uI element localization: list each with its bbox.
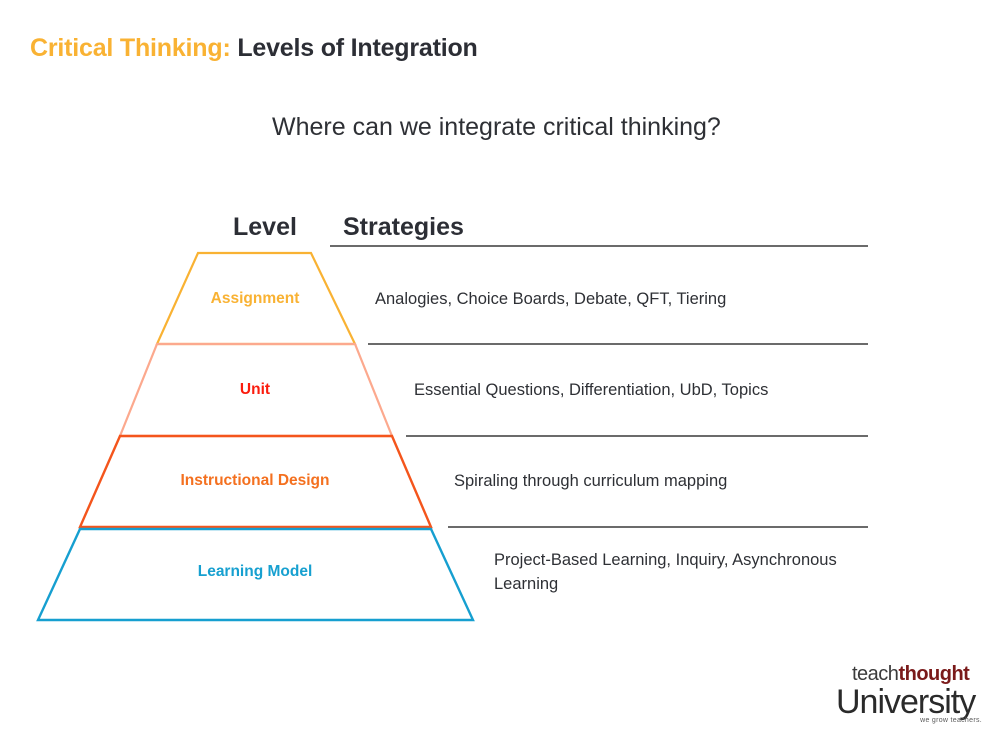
logo-wordmark: teachthought [836,664,986,684]
band-label-instructional-design: Instructional Design [181,472,330,490]
strategy-assignment: Analogies, Choice Boards, Debate, QFT, T… [375,288,865,312]
strategy-unit: Essential Questions, Differentiation, Ub… [414,379,864,403]
strategy-learning-model: Project-Based Learning, Inquiry, Asynchr… [494,549,884,597]
band-label-learning-model: Learning Model [198,563,313,581]
band-label-assignment: Assignment [211,290,300,308]
logo-word-teach: teach [852,663,898,685]
logo-word-thought: thought [898,663,969,685]
logo-university: University [836,685,986,719]
strategy-instructional-design: Spiraling through curriculum mapping [454,470,864,494]
slide-canvas: Critical Thinking: Levels of Integration… [0,0,1000,750]
pyramid-diagram [0,0,1000,750]
band-label-unit: Unit [240,381,270,399]
teachthought-university-logo: teachthought University we grow teachers… [836,664,986,724]
